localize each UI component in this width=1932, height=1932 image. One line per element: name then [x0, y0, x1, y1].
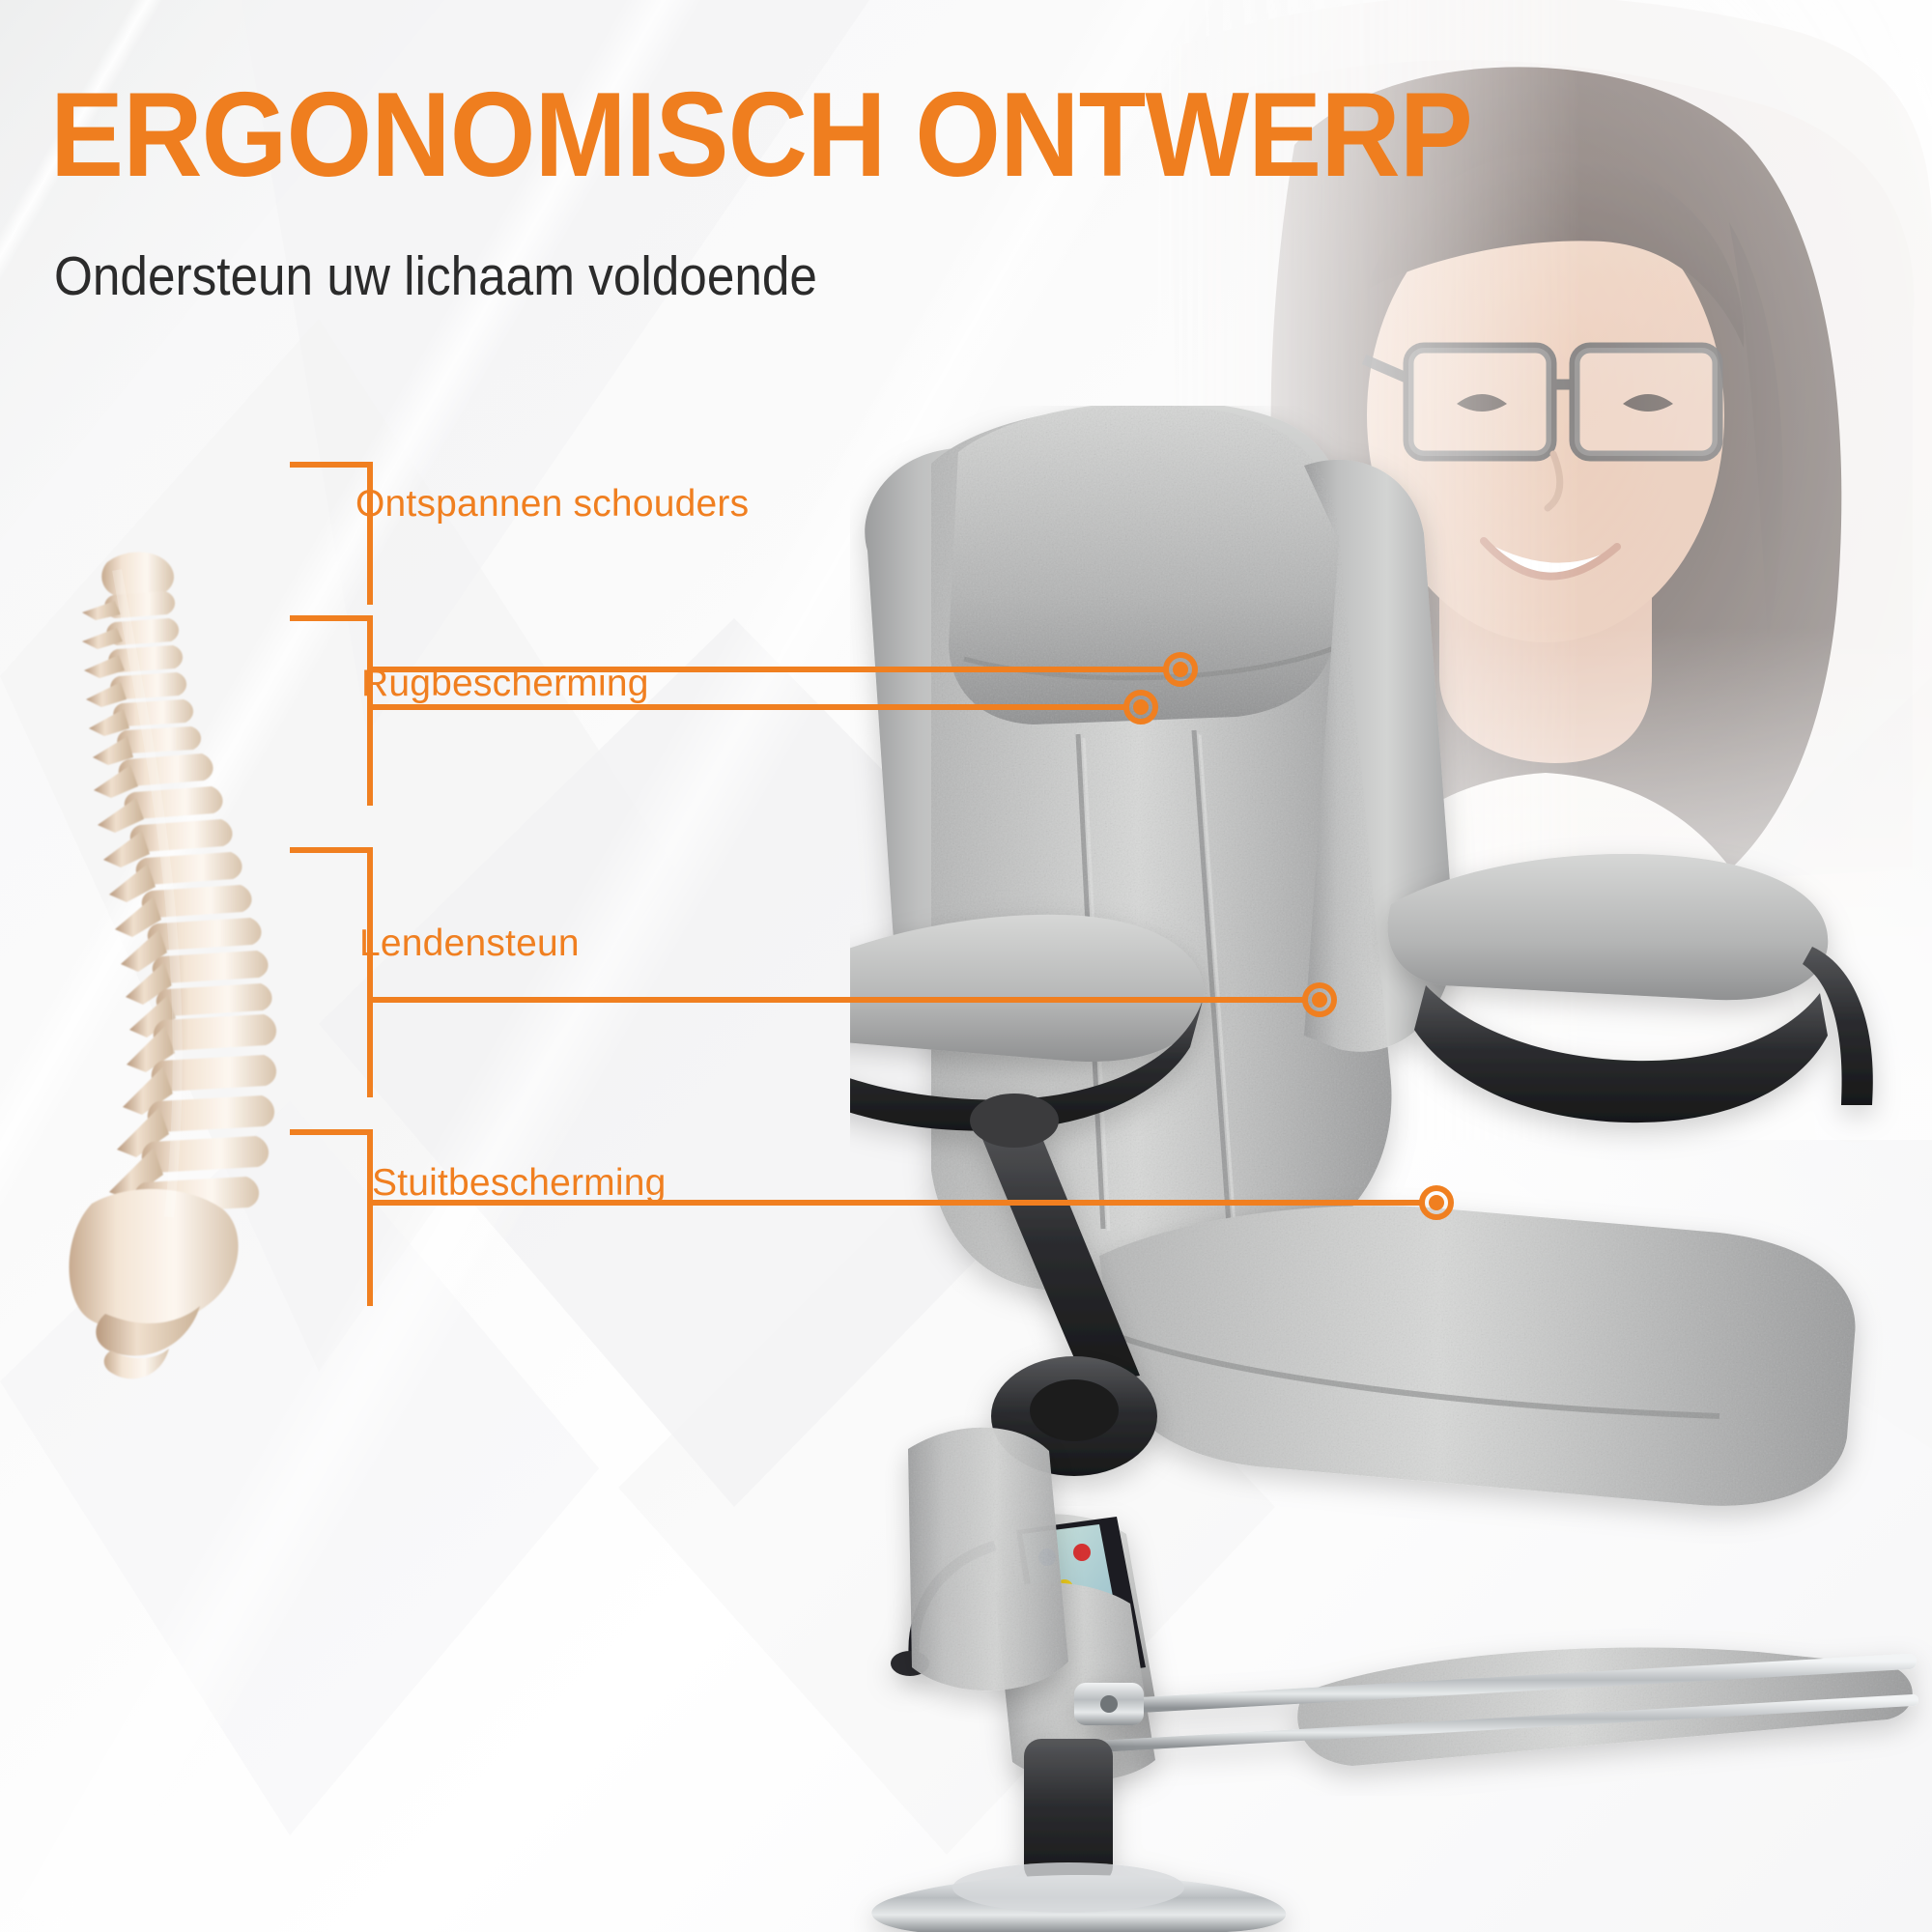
- product-image-office-chair: [850, 406, 1932, 1932]
- page-subtitle: Ondersteun uw lichaam voldoende: [54, 249, 817, 304]
- page-title: ERGONOMISCH ONTWERP: [50, 75, 1472, 195]
- infographic-canvas: ERGONOMISCH ONTWERP Ondersteun uw lichaa…: [0, 0, 1932, 1932]
- callout-label-back: Rugbescherming: [361, 663, 649, 705]
- callout-label-lumbar: Lendensteun: [359, 923, 580, 965]
- spine-illustration: [53, 541, 343, 1391]
- callout-label-tailbone: Stuitbescherming: [372, 1162, 667, 1205]
- callout-label-shoulders: Ontspannen schouders: [355, 483, 749, 526]
